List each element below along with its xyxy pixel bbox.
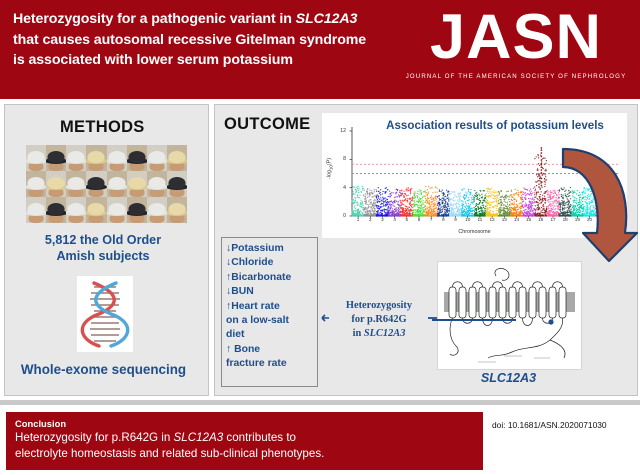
y-tick-label: 12 <box>336 128 346 134</box>
title-gene-italic: SLC12A3 <box>296 11 358 27</box>
amish-subjects-photo-grid <box>26 145 187 223</box>
x-tick-label: 14 <box>511 217 521 222</box>
conclusion-line-1-prefix: Heterozygosity for p.R642G in <box>15 431 174 444</box>
photo-cell <box>46 197 66 223</box>
finding-item: diet <box>226 328 317 342</box>
finding-item: on a low-salt <box>226 314 317 328</box>
photo-cell <box>66 145 86 171</box>
x-tick-label: 7 <box>426 217 436 222</box>
findings-list: ↓Potassium↓Chloride↑Bicarbonate↓BUN↑Hear… <box>221 237 318 387</box>
x-tick-label: 2 <box>365 217 375 222</box>
finding-item: ↓BUN <box>226 285 317 299</box>
photo-cell <box>86 145 106 171</box>
x-tick-label: 4 <box>390 217 400 222</box>
finding-label: BUN <box>231 286 254 297</box>
dna-helix-icon <box>77 276 133 352</box>
x-tick-label: 11 <box>475 217 485 222</box>
photo-cell <box>66 171 86 197</box>
finding-item: ↑Bicarbonate <box>226 271 317 285</box>
hetero-line-1: Heterozygosity <box>346 300 412 311</box>
finding-label: diet <box>226 329 244 340</box>
doi-text: doi: 10.1681/ASN.2020071030 <box>492 420 637 430</box>
cohort-caption-line-1: 5,812 the Old Order <box>45 233 161 247</box>
x-tick-label: 8 <box>438 217 448 222</box>
title-line-2: that causes autosomal recessive Gitelman… <box>13 32 366 48</box>
y-tick-label: 4 <box>336 185 346 191</box>
finding-item: ↑Heart rate <box>226 300 317 314</box>
outcome-section-label: OUTCOME <box>224 115 310 134</box>
photo-cell <box>26 171 46 197</box>
photo-cell <box>127 171 147 197</box>
header-banner: Heterozygosity for a pathogenic variant … <box>0 0 640 99</box>
photo-cell <box>107 171 127 197</box>
y-tick-label: 8 <box>336 156 346 162</box>
photo-cell <box>167 145 187 171</box>
x-tick-label: 10 <box>463 217 473 222</box>
photo-cell <box>86 197 106 223</box>
sequencing-caption: Whole-exome sequencing <box>6 362 201 377</box>
photo-cell <box>46 171 66 197</box>
title-line-3: is associated with lower serum potassium <box>13 52 293 68</box>
photo-cell <box>147 197 167 223</box>
footer-divider <box>0 400 640 405</box>
finding-item: ↑ Bone <box>226 343 317 357</box>
conclusion-line-1-suffix: contributes to <box>223 431 296 444</box>
photo-cell <box>86 171 106 197</box>
finding-item: fracture rate <box>226 357 317 371</box>
jasn-tagline: JOURNAL OF THE AMERICAN SOCIETY OF NEPHR… <box>400 73 632 80</box>
hetero-gene-italic: SLC12A3 <box>364 328 406 339</box>
page-title: Heterozygosity for a pathogenic variant … <box>13 9 405 71</box>
jasn-logo: JASN <box>400 6 632 68</box>
photo-cell <box>26 197 46 223</box>
conclusion-line-2: electrolyte homeostasis and related sub-… <box>15 447 324 460</box>
photo-cell <box>46 145 66 171</box>
methods-section-label: METHODS <box>60 118 145 137</box>
finding-label: Potassium <box>231 243 284 254</box>
photo-cell <box>127 197 147 223</box>
finding-item: ↓Chloride <box>226 256 317 270</box>
finding-label: Heart rate <box>231 301 280 312</box>
plot-y-axis-label: -log10(P) <box>326 149 333 189</box>
photo-cell <box>107 145 127 171</box>
x-tick-label: 12 <box>487 217 497 222</box>
photo-cell <box>167 197 187 223</box>
photo-cell <box>66 197 86 223</box>
hetero-line-3-prefix: in <box>353 328 364 339</box>
plot-title: Association results of potassium levels <box>370 119 620 132</box>
x-tick-label: 3 <box>377 217 387 222</box>
x-tick-label: 6 <box>414 217 424 222</box>
conclusion-box: Conclusion Heterozygosity for p.R642G in… <box>6 412 483 470</box>
x-tick-label: 9 <box>451 217 461 222</box>
conclusion-text: Heterozygosity for p.R642G in SLC12A3 co… <box>15 430 483 461</box>
cohort-caption-line-2: Amish subjects <box>56 249 149 263</box>
x-tick-label: 15 <box>524 217 534 222</box>
x-tick-label: 1 <box>353 217 363 222</box>
finding-item: ↓Potassium <box>226 242 317 256</box>
graphical-abstract: Heterozygosity for a pathogenic variant … <box>0 0 640 475</box>
photo-cell <box>127 145 147 171</box>
photo-cell <box>26 145 46 171</box>
photo-cell <box>147 171 167 197</box>
photo-cell <box>107 197 127 223</box>
variant-pointer-line-icon <box>322 316 522 324</box>
journal-branding: JASN JOURNAL OF THE AMERICAN SOCIETY OF … <box>400 6 632 80</box>
photo-cell <box>147 145 167 171</box>
finding-label: fracture rate <box>226 358 287 369</box>
x-tick-label: 13 <box>499 217 509 222</box>
x-tick-label: 5 <box>402 217 412 222</box>
finding-label: Bone <box>231 344 260 355</box>
title-line-1-part-a: Heterozygosity for a pathogenic variant … <box>13 11 296 27</box>
gene-label: SLC12A3 <box>437 371 580 385</box>
finding-label: Bicarbonate <box>231 272 291 283</box>
finding-label: Chloride <box>231 257 273 268</box>
conclusion-gene-italic: SLC12A3 <box>174 431 224 444</box>
cohort-caption: 5,812 the Old Order Amish subjects <box>8 232 198 264</box>
y-tick-label: 0 <box>336 213 346 219</box>
finding-label: on a low-salt <box>226 315 289 326</box>
conclusion-label: Conclusion <box>15 417 483 430</box>
photo-cell <box>167 171 187 197</box>
